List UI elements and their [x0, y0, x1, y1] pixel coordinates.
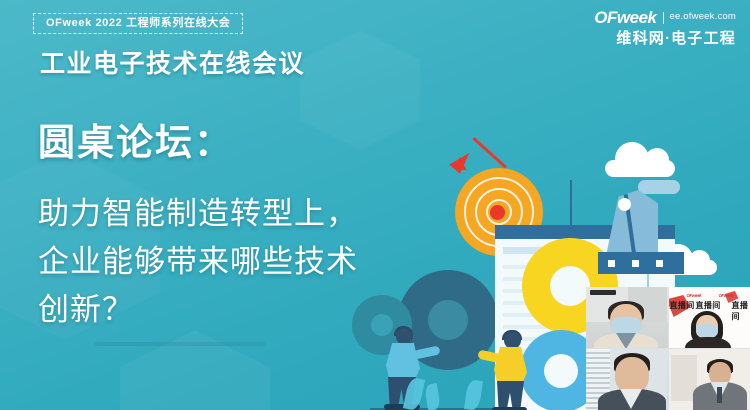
- ofweek-logo: OFweek: [594, 8, 656, 28]
- brand-logo-row: OFweek ee.ofweek.com: [594, 8, 736, 28]
- brand-block: OFweek ee.ofweek.com 维科网·电子工程: [594, 8, 736, 47]
- brand-url: ee.ofweek.com: [670, 12, 737, 23]
- video-participant-tile[interactable]: OFweek OFweek 直播间 直播间 直播间: [669, 287, 750, 348]
- red-arrow-icon: [472, 137, 507, 169]
- background-hexagon-decor: [120, 330, 270, 410]
- cloud-icon: [605, 160, 675, 177]
- video-participant-tile[interactable]: [669, 349, 750, 410]
- video-participant-tile[interactable]: [586, 349, 668, 410]
- person-pushing-gear-icon: [488, 332, 546, 410]
- conference-promo-banner: OFweek 2022 工程师系列在线大会 工业电子技术在线会议 OFweek …: [0, 0, 750, 410]
- backdrop-livestream-text: 直播间: [670, 300, 695, 311]
- event-series-badge: OFweek 2022 工程师系列在线大会: [33, 13, 243, 34]
- background-line-decor: [95, 342, 265, 346]
- backdrop-brand-text: OFweek: [719, 293, 734, 298]
- conference-title: 工业电子技术在线会议: [40, 44, 305, 80]
- backdrop-brand-text: OFweek: [687, 293, 702, 298]
- forum-label: 圆桌论坛：: [38, 112, 233, 166]
- leaf-decor: [464, 379, 483, 410]
- bullseye-center-icon: [490, 205, 505, 220]
- video-conference-grid[interactable]: OFweek OFweek 直播间 直播间 直播间: [586, 287, 750, 410]
- backdrop-livestream-text: 直播间: [732, 300, 750, 322]
- backdrop-livestream-text: 直播间: [696, 300, 721, 311]
- robotic-arm-icon: [598, 180, 688, 300]
- brand-site-name: 维科网·电子工程: [594, 30, 736, 47]
- red-arrow-head-icon: [449, 148, 474, 174]
- brand-divider-icon: [663, 12, 664, 24]
- gear-wire-decor: [570, 180, 572, 242]
- video-participant-tile[interactable]: [586, 287, 668, 348]
